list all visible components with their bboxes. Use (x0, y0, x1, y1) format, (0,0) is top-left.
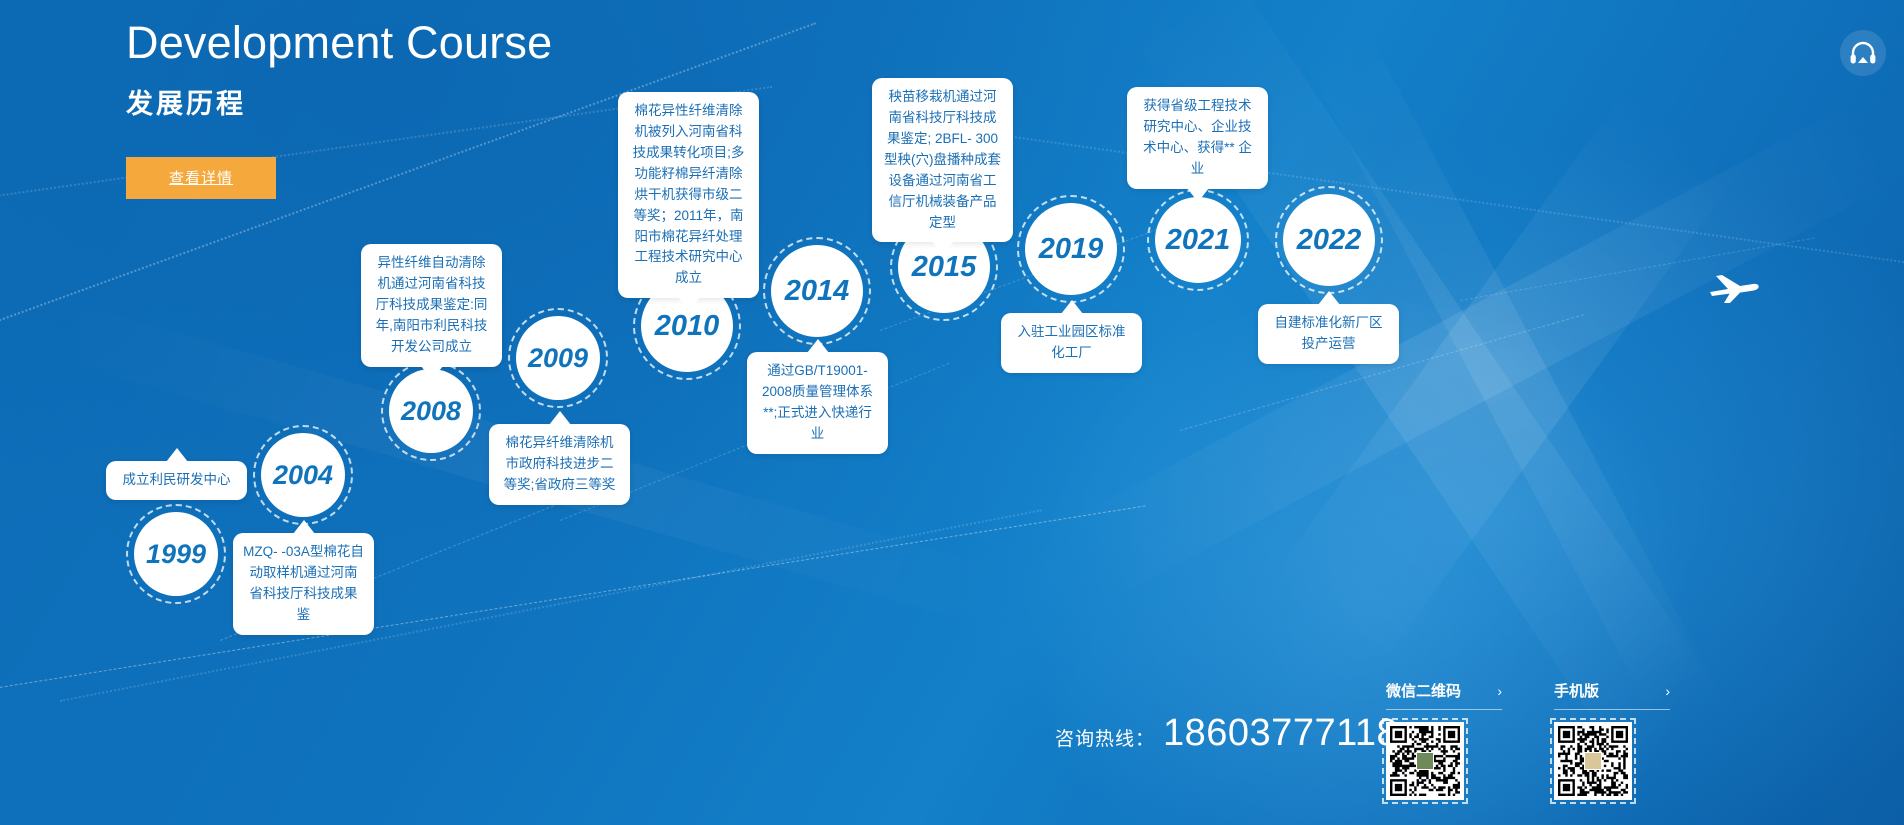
bubble-pointer (1061, 300, 1083, 314)
bubble-pointer (932, 241, 954, 255)
bubble-pointer (1318, 291, 1340, 305)
bubble-text: 秧苗移栽机通过河南省科技厅科技成果鉴定; 2BFL- 300型秧(穴)盘播种成套… (882, 87, 1003, 233)
qr-block-mobile: 手机版 › (1554, 680, 1670, 800)
timeline-bubble-2004[interactable]: MZQ- -03A型棉花自动取样机通过河南省科技厅科技成果鉴 (233, 533, 374, 635)
timeline-bubble-2022[interactable]: 自建标准化新厂区投产运营 (1258, 304, 1399, 364)
qr-block-wechat: 微信二维码 › (1386, 680, 1502, 800)
timeline-node-year: 2008 (401, 396, 461, 427)
qr-center-logo (1584, 752, 1602, 770)
bubble-pointer (421, 366, 443, 380)
view-detail-label: 查看详情 (169, 167, 233, 188)
bubble-pointer (678, 297, 700, 311)
timeline-bubble-2008[interactable]: 异性纤维自动清除机通过河南省科技厅科技成果鉴定:同年,南阳市利民科技开发公司成立 (361, 244, 502, 367)
qr-header[interactable]: 微信二维码 › (1386, 680, 1502, 710)
timeline-node-year: 1999 (146, 539, 206, 570)
bubble-text: 棉花异纤维清除机市政府科技进步二等奖;省政府三等奖 (499, 433, 620, 496)
qr-code-image-mobile (1554, 722, 1632, 800)
timeline-node-1999[interactable]: 1999 (134, 512, 218, 596)
qr-header[interactable]: 手机版 › (1554, 680, 1670, 710)
background-streak (1299, 19, 1718, 723)
timeline-node-year: 2022 (1297, 224, 1362, 257)
bubble-pointer (293, 520, 315, 534)
chevron-right-icon: › (1497, 683, 1502, 699)
timeline-node-year: 2021 (1166, 224, 1231, 257)
bubble-text: 成立利民研发中心 (116, 470, 237, 491)
bubble-text: 棉花异性纤维清除机被列入河南省科技成果转化项目;多功能籽棉异纤清除烘干机获得市级… (628, 101, 749, 289)
bubble-text: 通过GB/T19001-2008质量管理体系**;正式进入快递行业 (757, 361, 878, 445)
bubble-text: 入驻工业园区标准化工厂 (1011, 322, 1132, 364)
timeline-node-year: 2004 (273, 460, 333, 491)
timeline-node-2014[interactable]: 2014 (771, 245, 863, 337)
timeline-bubble-2010[interactable]: 棉花异性纤维清除机被列入河南省科技成果转化项目;多功能籽棉异纤清除烘干机获得市级… (618, 92, 759, 298)
hotline-label: 咨询热线： (1055, 724, 1155, 751)
timeline-node-year: 2019 (1039, 233, 1104, 266)
timeline-node-year: 2014 (785, 275, 850, 308)
timeline-node-2004[interactable]: 2004 (261, 433, 345, 517)
bubble-pointer (807, 339, 829, 353)
timeline-node-2022[interactable]: 2022 (1283, 194, 1375, 286)
hotline-number: 18603777118 (1163, 712, 1398, 755)
timeline-bubble-1999[interactable]: 成立利民研发中心 (106, 461, 247, 500)
page-title-en: Development Course (126, 18, 552, 68)
customer-service-icon[interactable] (1840, 30, 1886, 76)
bubble-text: 获得省级工程技术研究中心、企业技术中心、获得** 企业 (1137, 96, 1258, 180)
timeline-bubble-2021[interactable]: 获得省级工程技术研究中心、企业技术中心、获得** 企业 (1127, 87, 1268, 189)
timeline-node-2009[interactable]: 2009 (516, 316, 600, 400)
background-streak (1263, 87, 1741, 671)
timeline-node-year: 2010 (655, 310, 720, 343)
timeline-bubble-2009[interactable]: 棉花异纤维清除机市政府科技进步二等奖;省政府三等奖 (489, 424, 630, 505)
timeline-node-year: 2009 (528, 343, 588, 374)
timeline-node-2019[interactable]: 2019 (1025, 203, 1117, 295)
timeline-node-2008[interactable]: 2008 (389, 369, 473, 453)
qr-label: 微信二维码 (1386, 680, 1461, 701)
qr-code-image-wechat (1386, 722, 1464, 800)
timeline-bubble-2015[interactable]: 秧苗移栽机通过河南省科技厅科技成果鉴定; 2BFL- 300型秧(穴)盘播种成套… (872, 78, 1013, 242)
bubble-pointer (1187, 188, 1209, 202)
hotline: 咨询热线： 18603777118 (1055, 712, 1398, 755)
page-header: Development Course 发展历程 查看详情 (126, 18, 552, 199)
timeline-bubble-2019[interactable]: 入驻工业园区标准化工厂 (1001, 313, 1142, 373)
chevron-right-icon: › (1665, 683, 1670, 699)
qr-label: 手机版 (1554, 680, 1599, 701)
bubble-pointer (166, 448, 188, 462)
bubble-text: 异性纤维自动清除机通过河南省科技厅科技成果鉴定:同年,南阳市利民科技开发公司成立 (371, 253, 492, 358)
bubble-text: MZQ- -03A型棉花自动取样机通过河南省科技厅科技成果鉴 (243, 542, 364, 626)
qr-center-logo (1416, 752, 1434, 770)
development-course-page: Development Course 发展历程 查看详情 1999 2004 2… (0, 0, 1904, 825)
bubble-pointer (549, 411, 571, 425)
timeline-node-2021[interactable]: 2021 (1155, 197, 1241, 283)
page-title-cn: 发展历程 (126, 82, 552, 121)
decor-dashed-path (1460, 237, 1815, 300)
timeline-bubble-2014[interactable]: 通过GB/T19001-2008质量管理体系**;正式进入快递行业 (747, 352, 888, 454)
view-detail-button[interactable]: 查看详情 (126, 157, 276, 199)
airplane-icon (1708, 272, 1760, 311)
bubble-text: 自建标准化新厂区投产运营 (1268, 313, 1389, 355)
